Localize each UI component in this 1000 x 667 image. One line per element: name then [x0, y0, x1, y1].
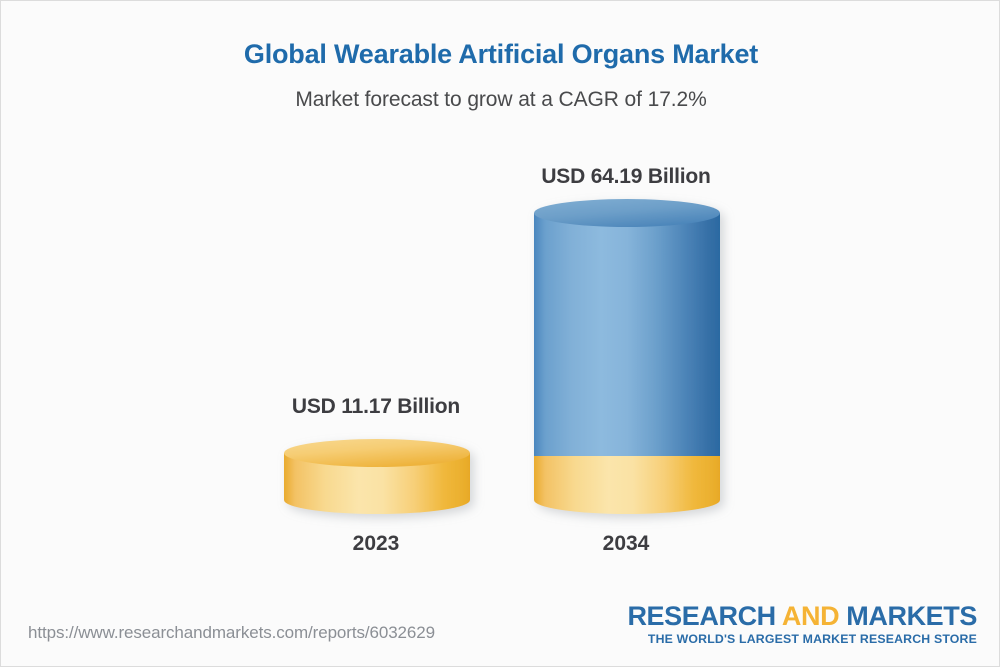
- report-url[interactable]: https://www.researchandmarkets.com/repor…: [28, 623, 435, 643]
- bar-cylinder-2034: [532, 199, 722, 529]
- brand-logo: RESEARCH AND MARKETS THE WORLD'S LARGEST…: [627, 602, 977, 646]
- chart-plot-area: USD 11.17 Billion USD 64.19 Billion 2023…: [1, 1, 1000, 667]
- bar-2023-top-cap: [284, 439, 470, 467]
- bar-cylinder-2023: [282, 439, 472, 529]
- bar-2034-base-segment: [534, 456, 720, 514]
- bar-2034-top-cap: [534, 199, 720, 227]
- bar-value-label-2034: USD 64.19 Billion: [496, 165, 756, 189]
- axis-category-label-2034: 2034: [496, 532, 756, 556]
- infographic-canvas: Global Wearable Artificial Organs Market…: [0, 0, 1000, 667]
- brand-logo-research: RESEARCH: [627, 601, 775, 631]
- brand-logo-and: AND: [782, 601, 839, 631]
- axis-category-label-2023: 2023: [246, 532, 506, 556]
- brand-logo-wordmark: RESEARCH AND MARKETS: [627, 602, 977, 630]
- bar-2034-growth-segment: [534, 213, 720, 456]
- brand-logo-tagline: THE WORLD'S LARGEST MARKET RESEARCH STOR…: [627, 632, 977, 646]
- brand-logo-markets: MARKETS: [846, 601, 977, 631]
- bar-value-label-2023: USD 11.17 Billion: [246, 395, 506, 419]
